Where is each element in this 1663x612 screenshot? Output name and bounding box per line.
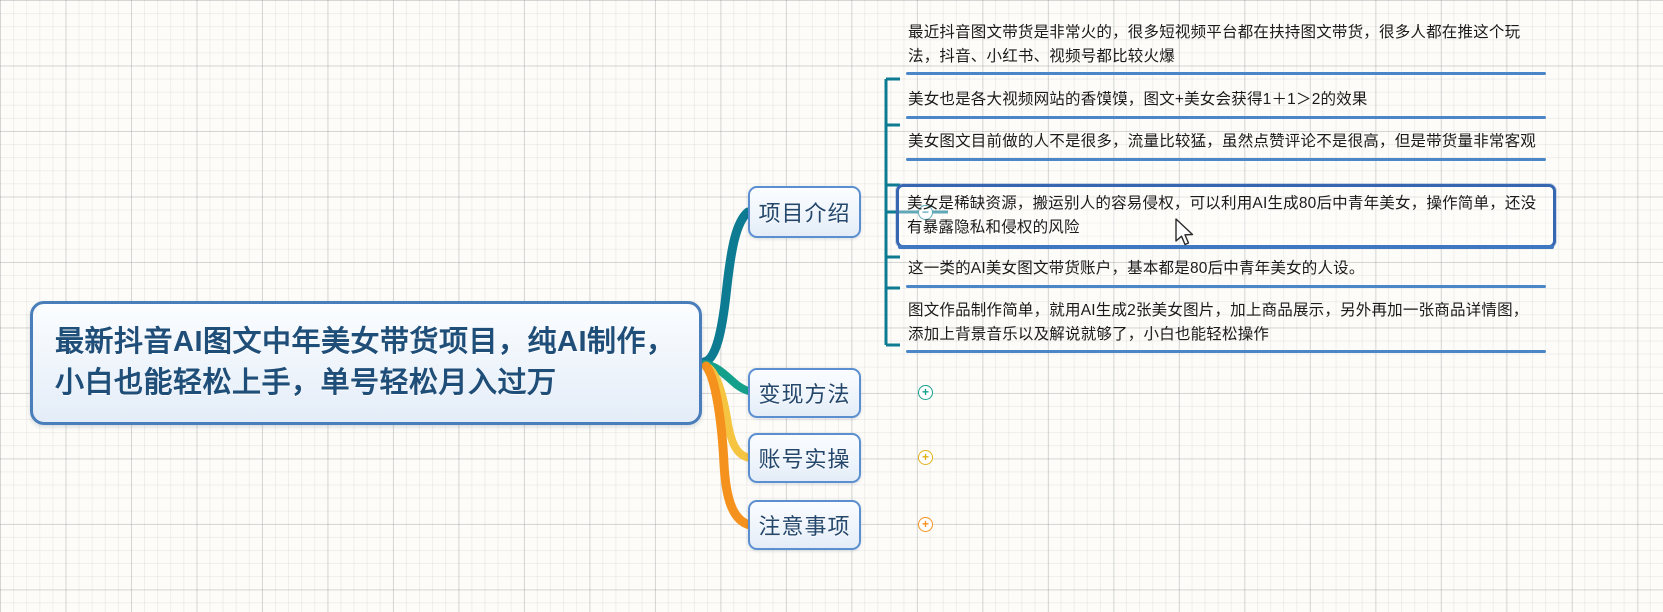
leaf-underline xyxy=(906,72,1546,75)
branch-node-notes[interactable]: 注意事项 xyxy=(748,500,861,550)
branch-label: 账号实操 xyxy=(758,442,850,474)
toggle-sign: + xyxy=(922,386,929,398)
leaf-underline xyxy=(906,350,1546,353)
leaf-topic[interactable]: 图文作品制作简单，就用AI生成2张美女图片，加上商品展示，另外再加一张商品详情图… xyxy=(900,294,1552,352)
leaf-topic[interactable]: 美女图文目前做的人不是很多，流量比较猛，虽然点赞评论不是很高，但是带货量非常客观 xyxy=(900,125,1552,160)
leaf-underline xyxy=(898,245,1554,249)
toggle-sign: + xyxy=(922,518,929,530)
leaf-topic-label: 最近抖音图文带货是非常火的，很多短视频平台都在扶持图文带货，很多人都在推这个玩法… xyxy=(908,21,1544,68)
toggle-sign: + xyxy=(922,451,929,463)
branch-label: 注意事项 xyxy=(758,509,850,541)
branch-node-account[interactable]: 账号实操 xyxy=(748,433,861,483)
leaf-topic-label: 美女图文目前做的人不是很多，流量比较猛，虽然点赞评论不是很高，但是带货量非常客观 xyxy=(908,130,1544,154)
leaf-topic-label: 图文作品制作简单，就用AI生成2张美女图片，加上商品展示，另外再加一张商品详情图… xyxy=(908,299,1544,346)
branch-label: 变现方法 xyxy=(758,377,850,409)
leaf-topic[interactable]: 美女也是各大视频网站的香馍馍，图文+美女会获得1＋1＞2的效果 xyxy=(900,83,1552,118)
leaf-underline xyxy=(906,285,1546,288)
branch-node-intro[interactable]: 项目介绍 xyxy=(748,186,861,238)
leaf-underline xyxy=(906,158,1546,161)
leaf-topic-label: 美女也是各大视频网站的香馍馍，图文+美女会获得1＋1＞2的效果 xyxy=(908,88,1544,112)
leaf-topic-label: 这一类的AI美女图文带货账户，基本都是80后中青年美女的人设。 xyxy=(908,257,1544,281)
branch-node-monetize[interactable]: 变现方法 xyxy=(748,368,861,418)
expand-toggle-notes[interactable]: + xyxy=(918,517,933,532)
mindmap-canvas[interactable]: 最新抖音AI图文中年美女带货项目，纯AI制作，小白也能轻松上手，单号轻松月入过万… xyxy=(0,0,1663,612)
leaf-underline xyxy=(906,116,1546,119)
leaf-topic[interactable]: 这一类的AI美女图文带货账户，基本都是80后中青年美女的人设。 xyxy=(900,252,1552,287)
central-topic-label: 最新抖音AI图文中年美女带货项目，纯AI制作，小白也能轻松上手，单号轻松月入过万 xyxy=(33,322,699,404)
branch-label: 项目介绍 xyxy=(758,196,850,228)
expand-toggle-monetize[interactable]: + xyxy=(918,385,933,400)
leaf-topic-label: 美女是稀缺资源，搬运别人的容易侵权，可以利用AI生成80后中青年美女，操作简单，… xyxy=(907,192,1545,239)
expand-toggle-account[interactable]: + xyxy=(918,450,933,465)
leaf-topic-selected[interactable]: 美女是稀缺资源，搬运别人的容易侵权，可以利用AI生成80后中青年美女，操作简单，… xyxy=(896,184,1556,248)
central-topic[interactable]: 最新抖音AI图文中年美女带货项目，纯AI制作，小白也能轻松上手，单号轻松月入过万 xyxy=(30,301,702,425)
leaf-topic[interactable]: 最近抖音图文带货是非常火的，很多短视频平台都在扶持图文带货，很多人都在推这个玩法… xyxy=(900,16,1552,74)
